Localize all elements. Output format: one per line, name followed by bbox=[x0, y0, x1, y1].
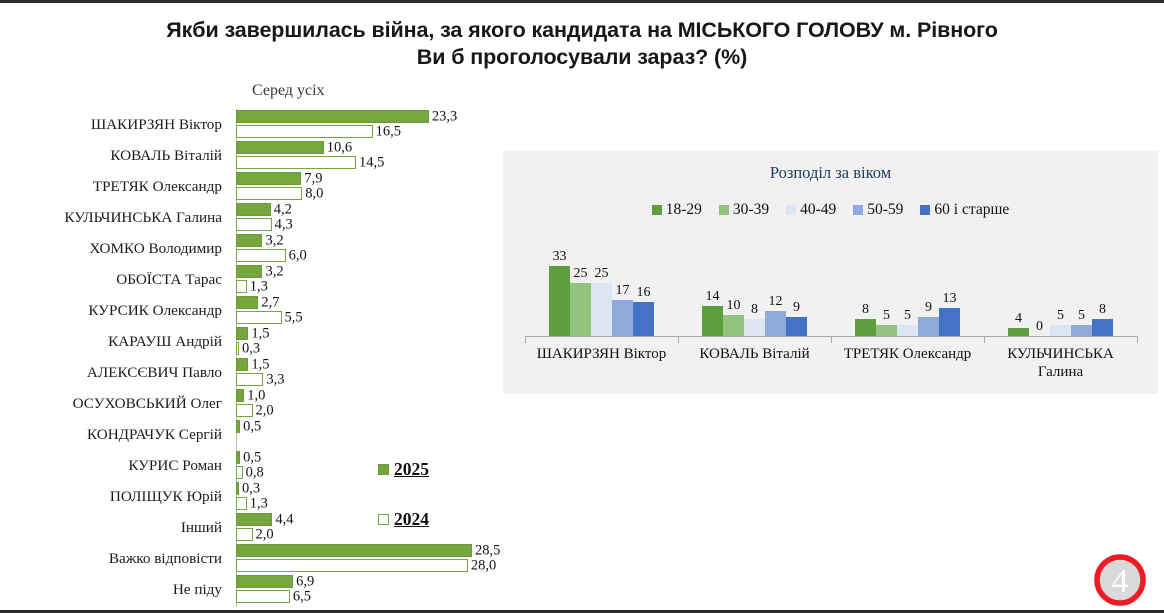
slide-canvas: Якби завершилась війна, за якого кандида… bbox=[0, 0, 1164, 613]
age-bar-group: 14108129 bbox=[678, 251, 831, 336]
bar-2024: 0,8 bbox=[236, 466, 243, 479]
bar-pair: 3,26,0 bbox=[236, 234, 286, 262]
bar-value-label: 3,3 bbox=[266, 371, 284, 388]
age-bar-40-49: 25 bbox=[591, 283, 612, 336]
bar-2024: 5,5 bbox=[236, 311, 282, 324]
bar-value-label: 14,5 bbox=[359, 154, 384, 171]
bar-2025: 10,6 bbox=[236, 141, 324, 154]
bar-value-label: 23,3 bbox=[432, 108, 457, 125]
candidate-row: ТРЕТЯК Олександр7,98,0 bbox=[0, 171, 510, 202]
age-bar-value-label: 5 bbox=[1078, 308, 1085, 324]
age-legend-label: 50-59 bbox=[867, 201, 903, 219]
bar-2024: 1,3 bbox=[236, 280, 247, 293]
bar-2025: 0,5 bbox=[236, 451, 240, 464]
bar-2024: 1,3 bbox=[236, 497, 247, 510]
candidate-row: Не піду6,96,5 bbox=[0, 574, 510, 605]
candidate-row: КУЛЬЧИНСЬКА Галина4,24,3 bbox=[0, 202, 510, 233]
age-bar-60-і-старше: 16 bbox=[633, 302, 654, 336]
bar-pair: 0,50,8 bbox=[236, 451, 243, 479]
bar-value-label: 1,3 bbox=[250, 495, 268, 512]
age-bar-value-label: 9 bbox=[793, 300, 800, 316]
bar-2025: 1,5 bbox=[236, 327, 248, 340]
age-bar-30-39: 25 bbox=[570, 283, 591, 336]
age-legend-swatch-icon bbox=[719, 205, 729, 215]
bar-pair: 4,24,3 bbox=[236, 203, 272, 231]
age-bar-value-label: 33 bbox=[553, 249, 567, 265]
candidate-row: ХОМКО Володимир3,26,0 bbox=[0, 233, 510, 264]
age-category-label: КОВАЛЬ Віталій bbox=[678, 345, 831, 363]
bar-2025: 2,7 bbox=[236, 296, 258, 309]
bar-pair: 1,02,0 bbox=[236, 389, 253, 417]
age-legend-swatch-icon bbox=[652, 205, 662, 215]
age-bar-40-49: 8 bbox=[744, 319, 765, 336]
candidate-label: Інший bbox=[0, 512, 222, 543]
bar-pair: 23,316,5 bbox=[236, 110, 429, 138]
age-category-label: ШАКИРЗЯН Віктор bbox=[525, 345, 678, 363]
age-legend-item-60-і-старше: 60 і старше bbox=[920, 201, 1009, 219]
age-bar-value-label: 25 bbox=[595, 266, 609, 282]
age-bar-value-label: 17 bbox=[616, 283, 630, 299]
age-legend-swatch-icon bbox=[786, 205, 796, 215]
age-bar-value-label: 14 bbox=[706, 289, 720, 305]
legend-item-2024: 2024 bbox=[378, 509, 498, 529]
bar-value-label: 0,8 bbox=[246, 464, 264, 481]
bar-value-label: 28,0 bbox=[471, 557, 496, 574]
candidate-label: КУРИС Роман bbox=[0, 450, 222, 481]
candidate-row: ШАКИРЗЯН Віктор23,316,5 bbox=[0, 109, 510, 140]
title-line-2: Ви б проголосували зараз? (%) bbox=[0, 44, 1164, 71]
age-legend-label: 30-39 bbox=[733, 201, 769, 219]
bar-2025: 1,5 bbox=[236, 358, 248, 371]
bar-2024: 2,0 bbox=[236, 528, 253, 541]
candidate-label: КУЛЬЧИНСЬКА Галина bbox=[0, 202, 222, 233]
age-bar-50-59: 12 bbox=[765, 311, 786, 336]
bar-value-label: 4,4 bbox=[275, 511, 293, 528]
age-legend-swatch-icon bbox=[853, 205, 863, 215]
age-bar-value-label: 5 bbox=[1057, 308, 1064, 324]
age-bar-18-29: 8 bbox=[855, 319, 876, 336]
age-bar-value-label: 13 bbox=[943, 291, 957, 307]
age-bar-value-label: 5 bbox=[883, 308, 890, 324]
bar-value-label: 4,3 bbox=[275, 216, 293, 233]
age-bar-60-і-старше: 8 bbox=[1092, 319, 1113, 336]
age-bar-value-label: 0 bbox=[1036, 319, 1043, 335]
bar-2025: 3,2 bbox=[236, 265, 262, 278]
age-bar-value-label: 16 bbox=[637, 285, 651, 301]
age-bar-value-label: 12 bbox=[769, 294, 783, 310]
svg-text:4: 4 bbox=[1112, 563, 1129, 600]
age-bar-18-29: 14 bbox=[702, 306, 723, 336]
bar-value-label: 0,3 bbox=[242, 340, 260, 357]
age-legend-item-50-59: 50-59 bbox=[853, 201, 903, 219]
age-bar-60-і-старше: 9 bbox=[786, 317, 807, 336]
candidate-label: АЛЕКСЄВИЧ Павло bbox=[0, 357, 222, 388]
age-bar-group: 3325251716 bbox=[525, 251, 678, 336]
age-bars: 855913 bbox=[855, 251, 960, 336]
bar-2024: 2,0 bbox=[236, 404, 253, 417]
age-bar-value-label: 25 bbox=[574, 266, 588, 282]
legend-swatch-icon bbox=[378, 514, 389, 525]
age-axis-tick bbox=[984, 336, 985, 343]
bar-value-label: 6,5 bbox=[293, 588, 311, 605]
age-legend-swatch-icon bbox=[920, 205, 930, 215]
candidate-label: Важко відповісти bbox=[0, 543, 222, 574]
candidate-row: КОВАЛЬ Віталій10,614,5 bbox=[0, 140, 510, 171]
legend-item-2025: 2025 bbox=[378, 459, 498, 479]
age-legend-item-30-39: 30-39 bbox=[719, 201, 769, 219]
age-bar-value-label: 10 bbox=[727, 298, 741, 314]
candidate-row: АЛЕКСЄВИЧ Павло1,53,3 bbox=[0, 357, 510, 388]
candidate-label: ОБОЇСТА Тарас bbox=[0, 264, 222, 295]
bar-2024: 6,0 bbox=[236, 249, 286, 262]
bar-2024: 3,3 bbox=[236, 373, 263, 386]
age-bar-value-label: 8 bbox=[751, 302, 758, 318]
bar-pair: 3,21,3 bbox=[236, 265, 262, 293]
age-axis-tick bbox=[678, 336, 679, 343]
bar-pair: 1,50,3 bbox=[236, 327, 248, 355]
bar-pair: 6,96,5 bbox=[236, 575, 293, 603]
bar-2025: 3,2 bbox=[236, 234, 262, 247]
bar-2025: 4,4 bbox=[236, 513, 272, 526]
bar-2025: 1,0 bbox=[236, 389, 244, 402]
age-bar-group: 855913 bbox=[831, 251, 984, 336]
age-bar-value-label: 4 bbox=[1015, 311, 1022, 327]
candidate-row: КАРАУШ Андрій1,50,3 bbox=[0, 326, 510, 357]
bar-2024: 0,3 bbox=[236, 342, 239, 355]
bar-pair: 0,31,3 bbox=[236, 482, 247, 510]
age-panel-title: Розподіл за віком bbox=[503, 163, 1158, 183]
age-distribution-panel: Розподіл за віком 18-2930-3940-4950-5960… bbox=[503, 151, 1158, 394]
age-bar-40-49: 5 bbox=[1050, 325, 1071, 336]
age-legend-label: 60 і старше bbox=[934, 201, 1009, 219]
title-line-1: Якби завершилась війна, за якого кандида… bbox=[0, 17, 1164, 44]
age-bar-30-39: 10 bbox=[723, 315, 744, 336]
bar-pair: 1,53,3 bbox=[236, 358, 263, 386]
bar-value-label: 5,5 bbox=[285, 309, 303, 326]
age-bar-value-label: 9 bbox=[925, 300, 932, 316]
bar-value-label: 3,2 bbox=[265, 263, 283, 280]
legend-swatch-icon bbox=[378, 464, 389, 475]
age-bar-60-і-старше: 13 bbox=[939, 308, 960, 336]
age-axis-tick bbox=[831, 336, 832, 343]
candidate-label: Не піду bbox=[0, 574, 222, 605]
age-legend-item-18-29: 18-29 bbox=[652, 201, 702, 219]
age-bar-50-59: 5 bbox=[1071, 325, 1092, 336]
candidate-label: КОВАЛЬ Віталій bbox=[0, 140, 222, 171]
legend-label: 2024 bbox=[394, 509, 429, 530]
age-bars: 14108129 bbox=[702, 251, 807, 336]
candidate-label: КАРАУШ Андрій bbox=[0, 326, 222, 357]
channel-4-logo: 4 bbox=[1094, 554, 1146, 606]
age-bar-40-49: 5 bbox=[897, 325, 918, 336]
bar-2024: 4,3 bbox=[236, 218, 272, 231]
age-bar-value-label: 5 bbox=[904, 308, 911, 324]
candidate-label: ХОМКО Володимир bbox=[0, 233, 222, 264]
bar-pair: 7,98,0 bbox=[236, 172, 302, 200]
age-bars: 40558 bbox=[1008, 251, 1113, 336]
left-chart-subtitle: Серед усіх bbox=[252, 82, 325, 100]
page-title: Якби завершилась війна, за якого кандида… bbox=[0, 17, 1164, 71]
age-legend-label: 40-49 bbox=[800, 201, 836, 219]
age-bar-value-label: 8 bbox=[1099, 302, 1106, 318]
bar-2025: 4,2 bbox=[236, 203, 271, 216]
bar-value-label: 2,7 bbox=[261, 294, 279, 311]
candidate-label: КУРСИК Олександр bbox=[0, 295, 222, 326]
candidate-row: КОНДРАЧУК Сергій0,5 bbox=[0, 419, 510, 450]
left-chart-legend: 20252024 bbox=[378, 459, 498, 559]
age-bar-50-59: 17 bbox=[612, 300, 633, 336]
age-legend-label: 18-29 bbox=[666, 201, 702, 219]
bar-value-label: 1,3 bbox=[250, 278, 268, 295]
candidate-label: ШАКИРЗЯН Віктор bbox=[0, 109, 222, 140]
bar-2024: 8,0 bbox=[236, 187, 302, 200]
candidate-row: КУРСИК Олександр2,75,5 bbox=[0, 295, 510, 326]
bar-2025: 23,3 bbox=[236, 110, 429, 123]
age-bar-value-label: 8 bbox=[862, 302, 869, 318]
bar-2025: 0,3 bbox=[236, 482, 239, 495]
bar-2024: 6,5 bbox=[236, 590, 290, 603]
age-axis-tick bbox=[525, 336, 526, 343]
age-category-label: КУЛЬЧИНСЬКА Галина bbox=[984, 345, 1137, 381]
candidate-label: ТРЕТЯК Олександр bbox=[0, 171, 222, 202]
bar-value-label: 0,5 bbox=[243, 418, 261, 435]
bar-value-label: 8,0 bbox=[305, 185, 323, 202]
age-bars: 3325251716 bbox=[549, 251, 654, 336]
age-bar-18-29: 33 bbox=[549, 266, 570, 336]
age-axis-tick bbox=[1137, 336, 1138, 343]
bar-2024: 16,5 bbox=[236, 125, 373, 138]
bar-value-label: 2,0 bbox=[256, 526, 274, 543]
bar-2025: 6,9 bbox=[236, 575, 293, 588]
legend-label: 2025 bbox=[394, 459, 429, 480]
bar-value-label: 10,6 bbox=[327, 139, 352, 156]
candidate-label: КОНДРАЧУК Сергій bbox=[0, 419, 222, 450]
bar-value-label: 3,2 bbox=[265, 232, 283, 249]
bar-pair: 10,614,5 bbox=[236, 141, 356, 169]
bar-pair: 2,75,5 bbox=[236, 296, 282, 324]
bar-pair: 0,5 bbox=[236, 420, 240, 435]
bar-value-label: 2,0 bbox=[256, 402, 274, 419]
bar-value-label: 16,5 bbox=[376, 123, 401, 140]
age-bar-50-59: 9 bbox=[918, 317, 939, 336]
age-bar-plot: 33252517161410812985591340558 bbox=[525, 251, 1137, 336]
candidate-label: ПОЛІЩУК Юрій bbox=[0, 481, 222, 512]
bar-value-label: 6,0 bbox=[289, 247, 307, 264]
age-legend-item-40-49: 40-49 bbox=[786, 201, 836, 219]
bar-2025: 7,9 bbox=[236, 172, 301, 185]
age-bar-30-39: 5 bbox=[876, 325, 897, 336]
candidate-row: ОСУХОВСЬКИЙ Олег1,02,0 bbox=[0, 388, 510, 419]
bar-2024: 14,5 bbox=[236, 156, 356, 169]
age-bar-18-29: 4 bbox=[1008, 328, 1029, 336]
bar-2025: 0,5 bbox=[236, 420, 240, 433]
age-chart-legend: 18-2930-3940-4950-5960 і старше bbox=[503, 201, 1158, 219]
bar-2024: 28,0 bbox=[236, 559, 468, 572]
bar-pair: 4,42,0 bbox=[236, 513, 272, 541]
candidate-row: ОБОЇСТА Тарас3,21,3 bbox=[0, 264, 510, 295]
age-category-label: ТРЕТЯК Олександр bbox=[831, 345, 984, 363]
age-bar-group: 40558 bbox=[984, 251, 1137, 336]
candidate-label: ОСУХОВСЬКИЙ Олег bbox=[0, 388, 222, 419]
